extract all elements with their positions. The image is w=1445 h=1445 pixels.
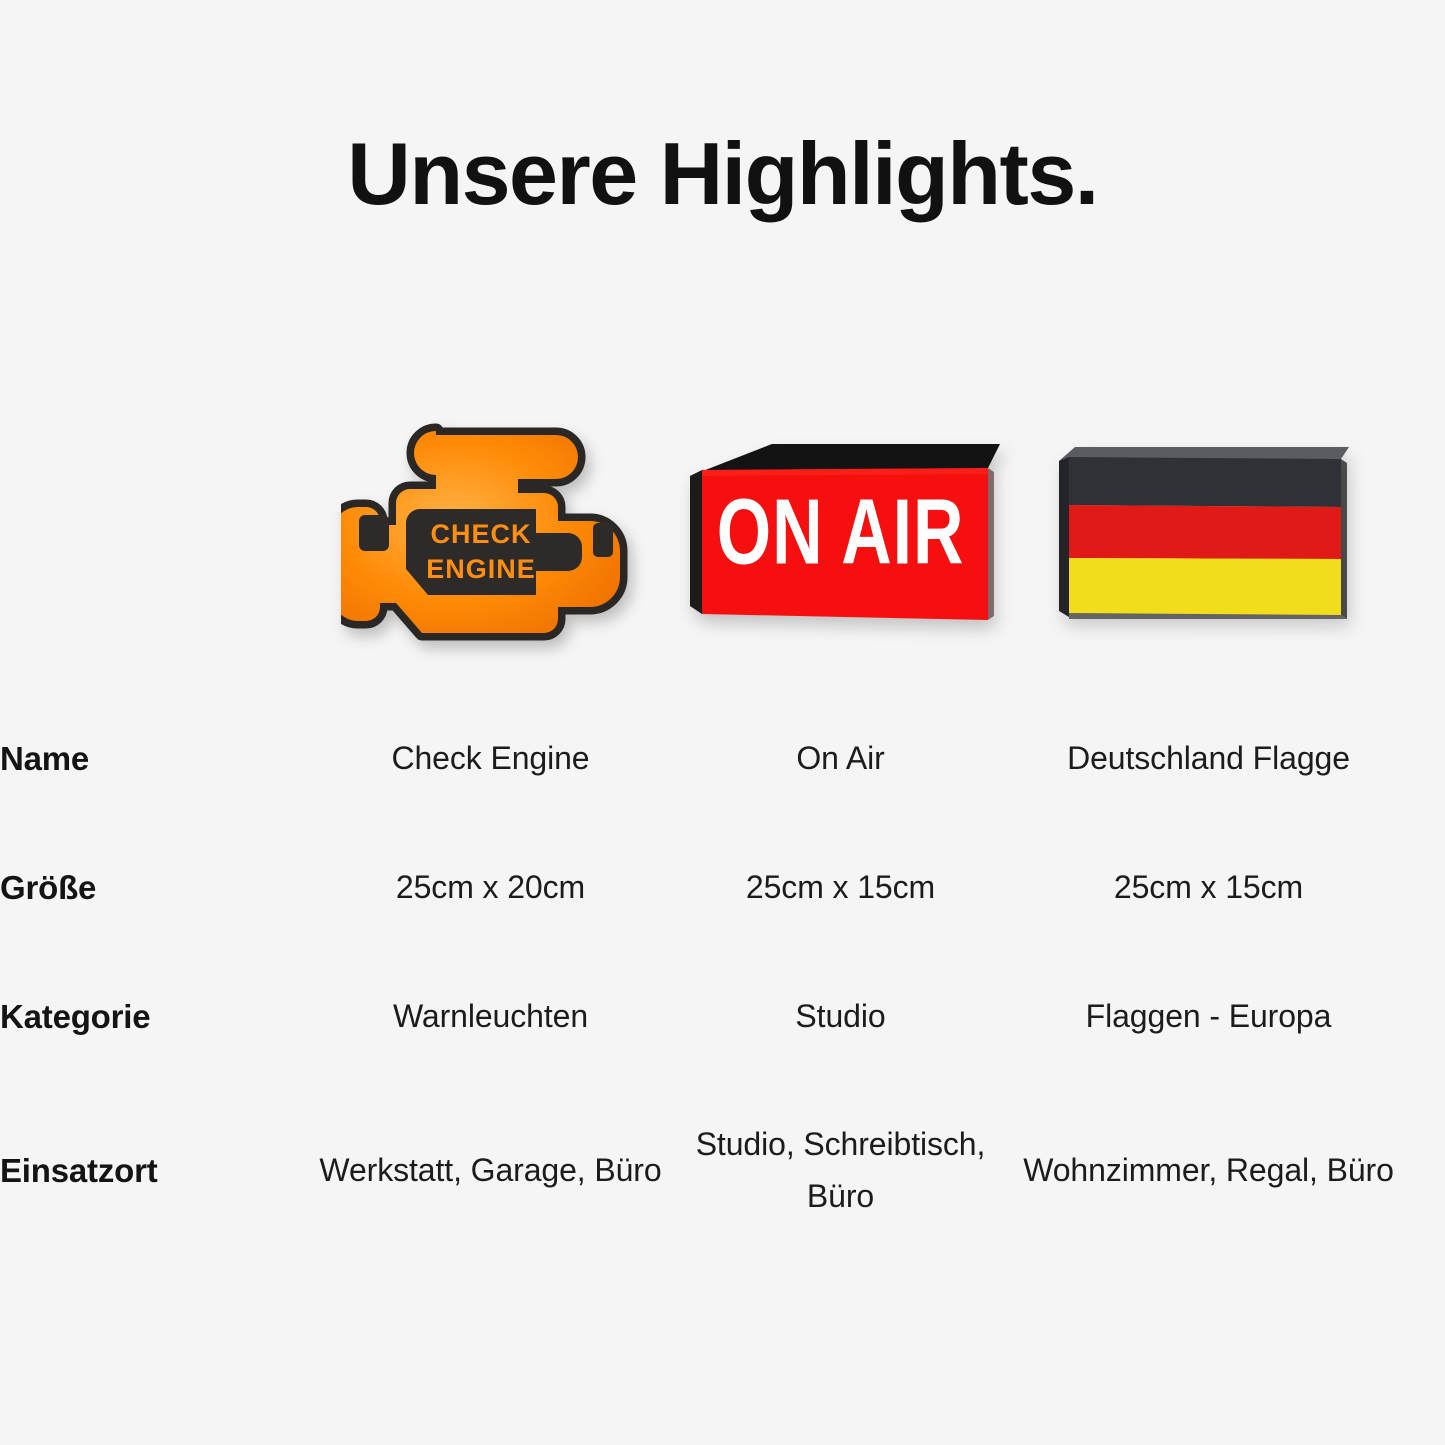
product-image-row: CHECK ENGINE [0, 404, 1445, 664]
row-label-einsatzort: Einsatzort [0, 1081, 318, 1261]
cell-kategorie-check-engine: Warnleuchten [318, 952, 663, 1081]
table-row-kategorie: Kategorie Warnleuchten Studio Flaggen - … [0, 952, 1445, 1081]
table-row-name: Name Check Engine On Air Deutschland Fla… [0, 694, 1445, 823]
cell-einsatzort-deutschland-flagge: Wohnzimmer, Regal, Büro [1018, 1081, 1445, 1261]
product-cell-deutschland-flagge[interactable] [1028, 404, 1378, 664]
row-label-name: Name [0, 694, 318, 823]
cell-name-on-air: On Air [663, 694, 1018, 823]
cell-groesse-check-engine: 25cm x 20cm [318, 823, 663, 952]
row-label-kategorie: Kategorie [0, 952, 318, 1081]
german-flag-box-icon [1053, 439, 1353, 629]
deutschland-flagge-image[interactable] [1053, 439, 1353, 629]
check-engine-sign-image[interactable]: CHECK ENGINE [341, 423, 641, 645]
cell-einsatzort-check-engine: Werkstatt, Garage, Büro [318, 1081, 663, 1261]
page-title-row: Unsere Highlights. [0, 128, 1445, 220]
check-engine-text-line1: CHECK [430, 519, 531, 549]
check-engine-icon: CHECK ENGINE [341, 423, 641, 645]
cell-kategorie-on-air: Studio [663, 952, 1018, 1081]
row-label-groesse: Größe [0, 823, 318, 952]
cell-kategorie-deutschland-flagge: Flaggen - Europa [1018, 952, 1445, 1081]
page-title: Unsere Highlights. [347, 128, 1097, 220]
cell-name-check-engine: Check Engine [318, 694, 663, 823]
cell-groesse-deutschland-flagge: 25cm x 15cm [1018, 823, 1445, 952]
cell-einsatzort-on-air: Studio, Schreibtisch, Büro [663, 1081, 1018, 1261]
on-air-sign-image[interactable]: ON AIR [682, 438, 1000, 630]
highlights-page: Unsere Highlights. [0, 0, 1445, 1445]
cell-groesse-on-air: 25cm x 15cm [663, 823, 1018, 952]
specification-table: Name Check Engine On Air Deutschland Fla… [0, 694, 1445, 1261]
product-cell-check-engine[interactable]: CHECK ENGINE [318, 404, 663, 664]
check-engine-text-line2: ENGINE [426, 554, 536, 584]
on-air-box-icon [682, 438, 1000, 630]
product-cell-on-air[interactable]: ON AIR [663, 404, 1018, 664]
cell-name-deutschland-flagge: Deutschland Flagge [1018, 694, 1445, 823]
table-row-groesse: Größe 25cm x 20cm 25cm x 15cm 25cm x 15c… [0, 823, 1445, 952]
table-row-einsatzort: Einsatzort Werkstatt, Garage, Büro Studi… [0, 1081, 1445, 1261]
